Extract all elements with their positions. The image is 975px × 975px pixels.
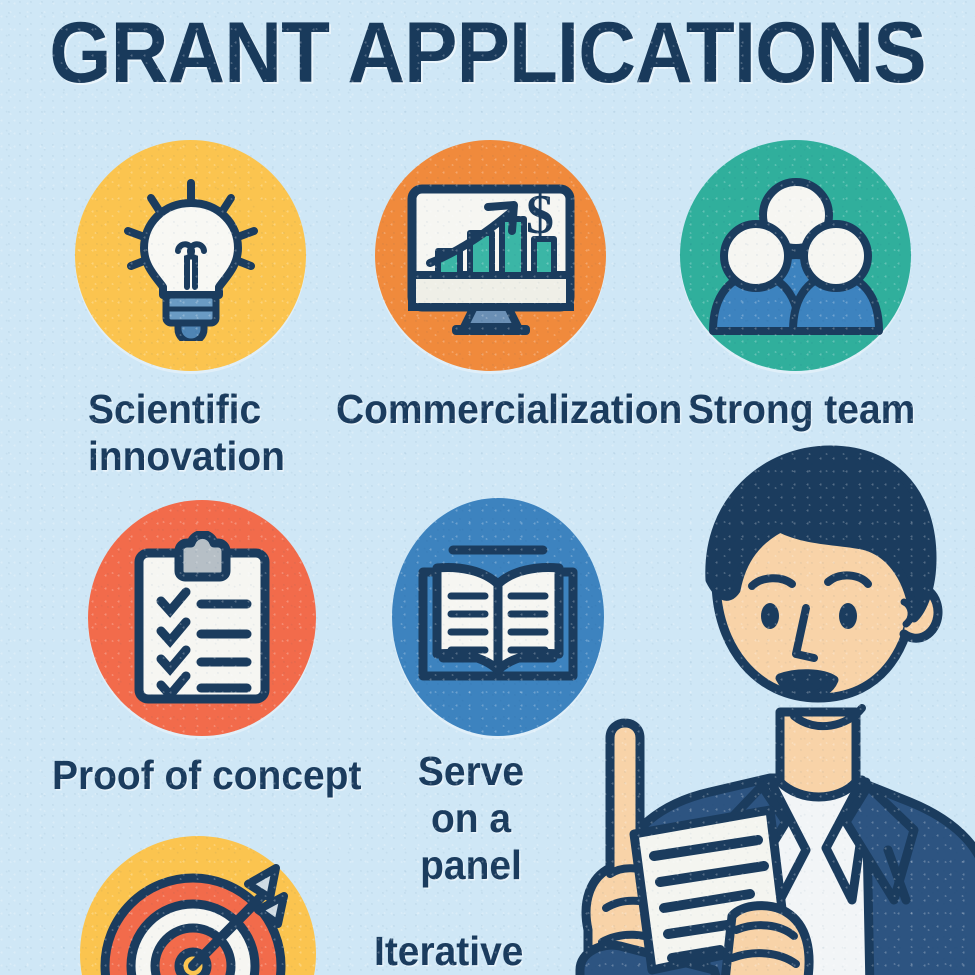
icon-circle-scientific-innovation[interactable]: [75, 140, 306, 371]
page-title: GRANT APPLICATIONS: [34, 6, 941, 100]
icon-circle-strong-team[interactable]: [680, 140, 911, 371]
label-scientific-innovation: Scientific innovation: [88, 386, 307, 480]
clipboard-checklist-icon: [127, 531, 277, 706]
label-commercialization: Commercialization: [336, 386, 669, 433]
icon-circle-proof-of-concept[interactable]: [88, 500, 316, 736]
monitor-growth-chart-icon: $: [402, 171, 580, 341]
lightbulb-icon: [106, 171, 276, 341]
label-strong-team: Strong team: [688, 386, 973, 433]
infographic-canvas: GRANT APPLICATIONS: [0, 0, 975, 975]
icon-circle-commercialization[interactable]: $: [375, 140, 606, 371]
three-people-icon: [701, 171, 891, 341]
target-arrow-icon: [98, 854, 298, 975]
svg-text:$: $: [526, 184, 554, 246]
businessman-illustration: [470, 430, 975, 975]
label-proof-of-concept: Proof of concept: [52, 752, 394, 799]
icon-circle-iterative[interactable]: [80, 836, 316, 975]
